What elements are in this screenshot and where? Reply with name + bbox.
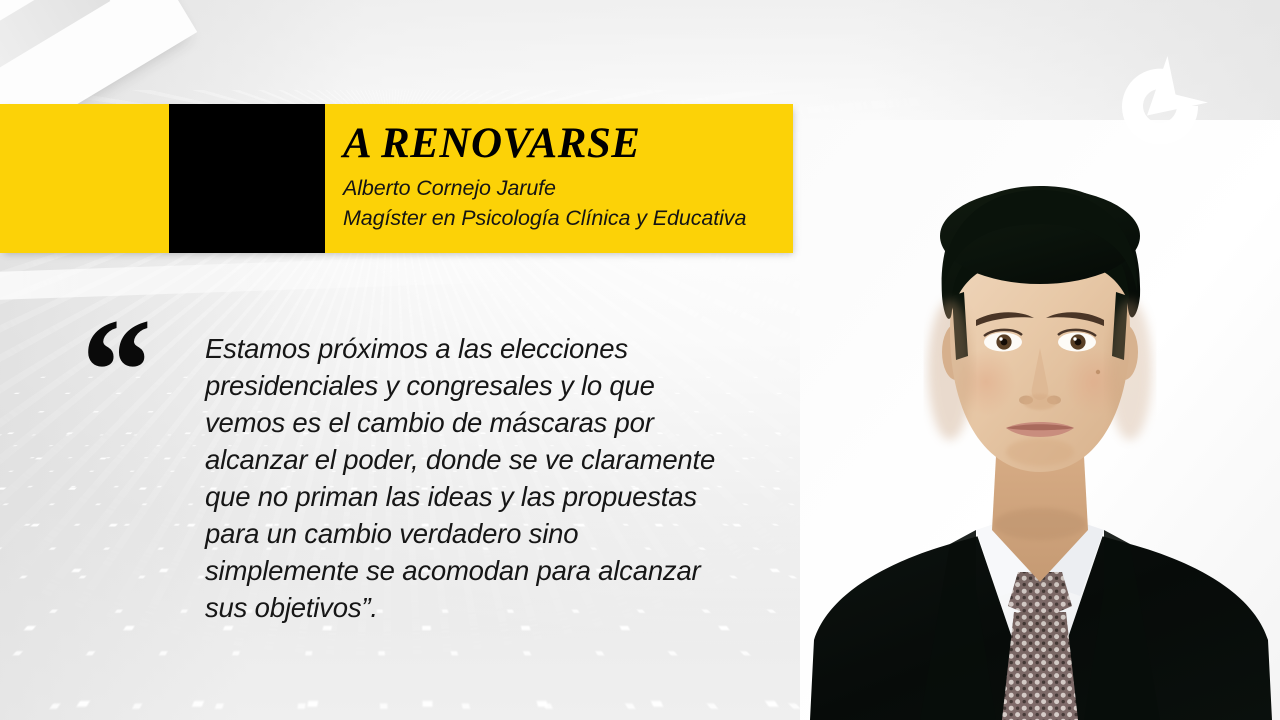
quote-text: Estamos próximos a las elecciones presid… bbox=[205, 330, 805, 626]
banner-black-block bbox=[169, 104, 325, 253]
quotation-mark-icon: “ bbox=[74, 296, 149, 446]
author-title: Magíster en Psicología Clínica y Educati… bbox=[343, 204, 793, 233]
slide-canvas: A RENOVARSE Alberto Cornejo Jarufe Magís… bbox=[0, 0, 1280, 720]
banner-text-group: A RENOVARSE Alberto Cornejo Jarufe Magís… bbox=[343, 104, 793, 253]
author-name: Alberto Cornejo Jarufe bbox=[343, 174, 793, 203]
quote-line: Estamos próximos a las elecciones bbox=[205, 330, 805, 367]
quote-line: alcanzar el poder, donde se ve clarament… bbox=[205, 441, 805, 478]
quote-line: sus objetivos”. bbox=[205, 589, 805, 626]
quote-line: presidenciales y congresales y lo que bbox=[205, 367, 805, 404]
brand-logo-circular-arrow[interactable] bbox=[1107, 52, 1213, 158]
quote-line: para un cambio verdadero sino bbox=[205, 515, 805, 552]
page-title: A RENOVARSE bbox=[343, 122, 793, 165]
quote-line: simplemente se acomodan para alcanzar bbox=[205, 552, 805, 589]
quote-line: que no priman las ideas y las propuestas bbox=[205, 478, 805, 515]
portrait-photo-man-in-suit bbox=[800, 120, 1280, 720]
quote-line: vemos es el cambio de máscaras por bbox=[205, 404, 805, 441]
title-banner: A RENOVARSE Alberto Cornejo Jarufe Magís… bbox=[0, 104, 793, 253]
